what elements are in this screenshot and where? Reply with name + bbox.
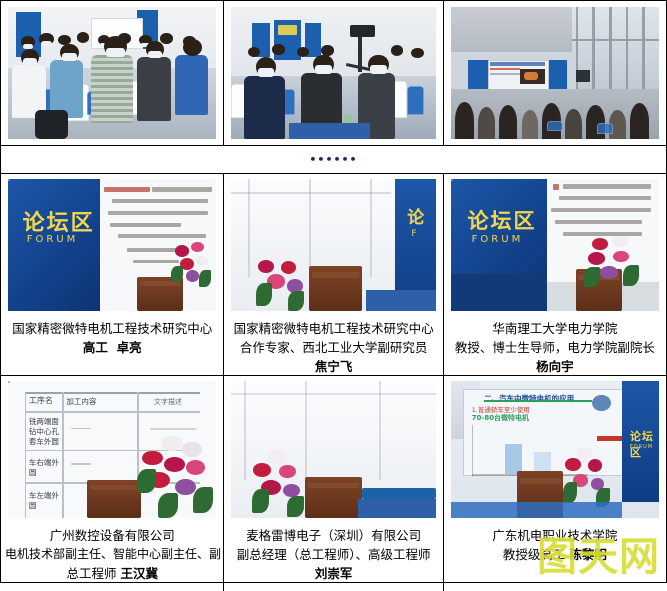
hall-overview-photo <box>451 7 659 139</box>
backdrop-title-zh: 论坛区 <box>23 205 95 237</box>
backdrop-title-en: FORUM <box>27 234 79 245</box>
backdrop-title-en-3: FORUM <box>472 234 524 245</box>
top-photo-cell-1 <box>1 1 224 145</box>
presentation-screen-speaker-photo: 二、汽车中微特电机的应用 1.普通轿车至少使用 70-80台微特电机 论坛区 F… <box>451 381 659 518</box>
speaker-name-line: 高工 卓亮 <box>5 338 219 357</box>
backdrop-title-en-6: FORUM <box>630 444 653 450</box>
speaker-name-line: 总工程师 王汉冀 <box>5 564 219 583</box>
slide-header-3: 文字描述 <box>154 397 182 407</box>
slide-row-1: 铣两端面钻中心孔套车外圆 <box>29 417 60 447</box>
blue-shirt-speaker-photo <box>231 381 435 518</box>
speaker-photo-cell-3: 论坛区 FORUM <box>444 174 666 314</box>
speaker-photo-cell-6: 二、汽车中微特电机的应用 1.普通轿车至少使用 70-80台微特电机 论坛区 F… <box>444 376 666 521</box>
speaker-role: 高工 <box>83 340 108 355</box>
speaker-caption-2: 国家精密微特电机工程技术研究中心 合作专家、西北工业大学副研究员 焦宁飞 <box>224 314 443 375</box>
speaker-caption-1: 国家精密微特电机工程技术研究中心 高工 卓亮 <box>1 314 224 375</box>
podium-speaker-photo: 论 F <box>231 179 435 311</box>
speaker-name: 焦宁飞 <box>228 357 438 375</box>
speaker-affiliation: 广东机电职业技术学院 <box>448 526 662 545</box>
slide-row-2: 车右端外圆 <box>29 458 60 478</box>
speaker-role: 教授、博士生导师，电力学院副院长 <box>448 338 662 357</box>
separator-dots: •••••• <box>309 154 357 165</box>
speaker-role: 教授级高工 <box>503 547 566 562</box>
speaker-caption-row-2: 广州数控设备有限公司 电机技术部副主任、智能中心副主任、副 总工程师 王汉冀 麦… <box>1 521 666 591</box>
forum-backdrop-speaker-photo: 论坛区 FORUM <box>8 179 216 311</box>
speaker-name-line: 教授级高工 陈黎明 <box>448 545 662 564</box>
speaker-affiliation: 国家精密微特电机工程技术研究中心 <box>5 319 219 338</box>
speaker-photo-row-2: 工序名 加工内容 文字描述 铣两端面钻中心孔套车外圆 车右端外圆 车左端外圆 <box>1 376 666 521</box>
speaker-caption-3: 华南理工大学电力学院 教授、博士生导师，电力学院副院长 杨向宇 <box>444 314 666 375</box>
slide-number: 70-80台微特电机 <box>472 413 529 423</box>
speaker-photo-cell-4: 工序名 加工内容 文字描述 铣两端面钻中心孔套车外圆 车右端外圆 车左端外圆 <box>1 376 224 521</box>
top-photo-cell-3 <box>444 1 666 145</box>
poster-sheet: •••••• 论坛区 FORUM <box>0 0 667 583</box>
speaker-name: 陈黎明 <box>569 547 607 562</box>
backdrop-title-zh-2: 论 <box>407 203 426 228</box>
speaker-photo-cell-1: 论坛区 FORUM <box>1 174 224 314</box>
speaker-photo-row-1: 论坛区 FORUM <box>1 174 666 314</box>
speaker-caption-4: 广州数控设备有限公司 电机技术部副主任、智能中心副主任、副 总工程师 王汉冀 <box>1 521 224 591</box>
speaker-name: 杨向宇 <box>448 357 662 375</box>
speaker-role: 电机技术部副主任、智能中心副主任、副 <box>5 545 219 564</box>
slide-title: 二、汽车中微特电机的应用 <box>484 393 574 404</box>
speaker-affiliation: 麦格雷博电子（深圳）有限公司 <box>228 526 438 545</box>
backdrop-title-zh-3: 论坛区 <box>468 205 537 235</box>
speaker-caption-5: 麦格雷博电子（深圳）有限公司 副总经理（总工程师）、高级工程师 刘崇军 <box>224 521 443 591</box>
top-photo-row <box>1 1 666 146</box>
slide-table-speaker-photo: 工序名 加工内容 文字描述 铣两端面钻中心孔套车外圆 车右端外圆 车左端外圆 <box>8 381 216 518</box>
speaker-photo-cell-2: 论 F <box>224 174 443 314</box>
audience-seated-photo <box>8 7 216 139</box>
speaker-affiliation: 国家精密微特电机工程技术研究中心 <box>228 319 438 338</box>
speaker-role: 合作专家、西北工业大学副研究员 <box>228 338 438 357</box>
speaker-name: 刘崇军 <box>228 564 438 583</box>
speaker-caption-row-1: 国家精密微特电机工程技术研究中心 高工 卓亮 国家精密微特电机工程技术研究中心 … <box>1 314 666 376</box>
forum-backdrop-speaker-photo-2: 论坛区 FORUM <box>451 179 659 311</box>
slide-row-3: 车左端外圆 <box>29 491 60 511</box>
speaker-name: 卓亮 <box>117 340 142 355</box>
speaker-affiliation: 华南理工大学电力学院 <box>448 319 662 338</box>
slide-header-2: 加工内容 <box>66 396 96 407</box>
separator-row: •••••• <box>1 146 666 174</box>
speaker-affiliation: 广州数控设备有限公司 <box>5 526 219 545</box>
backdrop-title-en-2: F <box>411 229 419 239</box>
speaker-caption-6: 广东机电职业技术学院 教授级高工 陈黎明 <box>444 521 666 591</box>
audience-camera-photo <box>231 7 435 139</box>
speaker-role-cont: 总工程师 <box>66 566 116 581</box>
top-photo-cell-2 <box>224 1 443 145</box>
speaker-role: 副总经理（总工程师）、高级工程师 <box>228 545 438 564</box>
speaker-name: 王汉冀 <box>120 566 158 581</box>
speaker-photo-cell-5 <box>224 376 443 521</box>
slide-header-1: 工序名 <box>29 395 53 406</box>
